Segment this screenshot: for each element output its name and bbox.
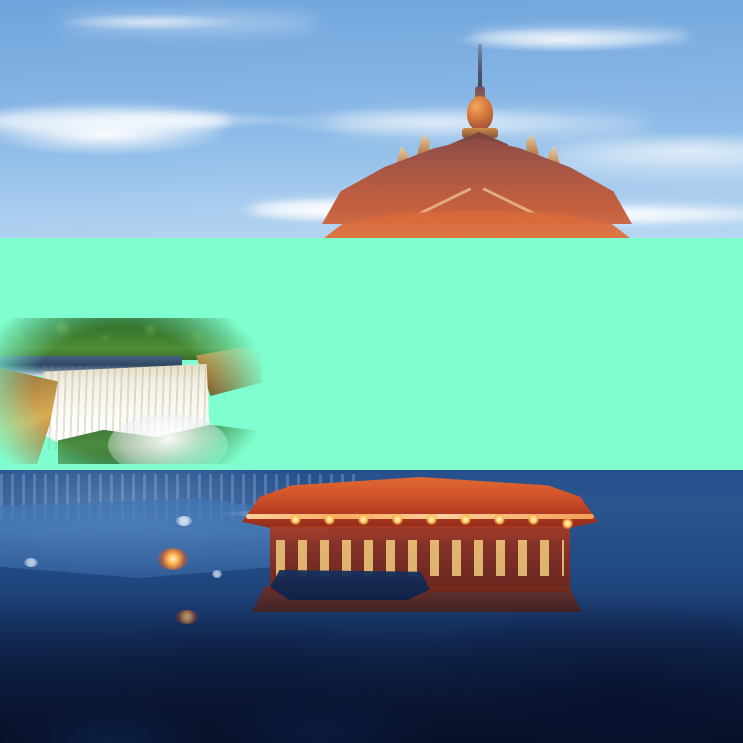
pagoda-spire	[478, 44, 482, 90]
shore-light	[158, 548, 188, 570]
moored-boat	[270, 570, 430, 600]
pavilion-lamp	[290, 514, 301, 525]
waterfall-mist	[108, 414, 228, 464]
cloud-icon	[470, 28, 690, 44]
travel-poster: "땡처리투어" 중국 항주,황산	[0, 0, 743, 743]
waterfall-inset-image	[0, 318, 262, 464]
top-photo-pagoda-sky	[0, 0, 743, 240]
pavilion-lamp	[358, 514, 369, 525]
pavilion-lamp	[562, 518, 573, 529]
pavilion-lamp	[392, 514, 403, 525]
pavilion-lamp	[528, 514, 539, 525]
bottom-photo-night-pavilion	[0, 470, 743, 743]
pavilion-lamp	[324, 514, 335, 525]
cloud-icon	[60, 14, 320, 32]
shore-light	[212, 570, 222, 578]
cloud-icon	[0, 108, 230, 134]
shore-light	[24, 558, 38, 567]
pavilion-lamp	[460, 514, 471, 525]
shore-light	[176, 516, 192, 526]
pavilion-building	[232, 470, 612, 620]
green-title-banner: "땡처리투어" 중국 항주,황산	[0, 238, 743, 470]
pavilion-lamp	[426, 514, 437, 525]
pavilion-lamp	[494, 514, 505, 525]
pagoda-finial-ball	[467, 96, 493, 130]
pagoda-roof-graphic	[330, 60, 620, 240]
